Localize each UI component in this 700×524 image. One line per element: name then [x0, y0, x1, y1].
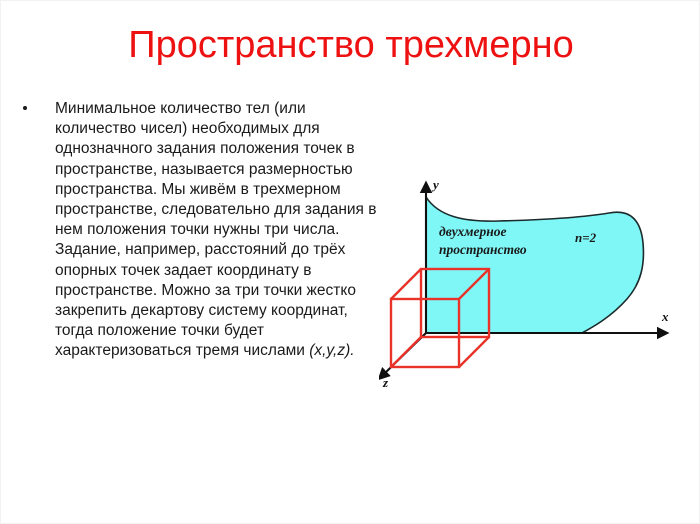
slide: Пространство трехмерно Минимальное колич… [0, 0, 700, 524]
bullet-dot-icon [23, 106, 27, 110]
coordinate-space-figure: двухмерное пространство n=2 y x z [379, 159, 691, 407]
cube-edge-bl [391, 337, 421, 367]
figure-svg: двухмерное пространство n=2 y x z [379, 159, 691, 407]
body-text-block: Минимальное количество тел (или количест… [19, 99, 379, 362]
cube-edge-tl [391, 269, 421, 299]
bullet-list-item: Минимальное количество тел (или количест… [19, 99, 379, 362]
axis-z-label: z [382, 375, 389, 390]
region-label-line2: пространство [439, 242, 527, 257]
paragraph-coordinates: (x,y,z). [309, 342, 354, 359]
page-title: Пространство трехмерно [1, 23, 700, 67]
dimension-label: n=2 [575, 230, 597, 245]
axis-x-label: x [661, 309, 669, 324]
cube-edge-br [459, 337, 489, 367]
axis-y-label: y [431, 177, 439, 192]
region-label-line1: двухмерное [439, 224, 507, 239]
bullet-paragraph: Минимальное количество тел (или количест… [55, 99, 379, 362]
paragraph-main-text: Минимальное количество тел (или количест… [55, 100, 376, 359]
